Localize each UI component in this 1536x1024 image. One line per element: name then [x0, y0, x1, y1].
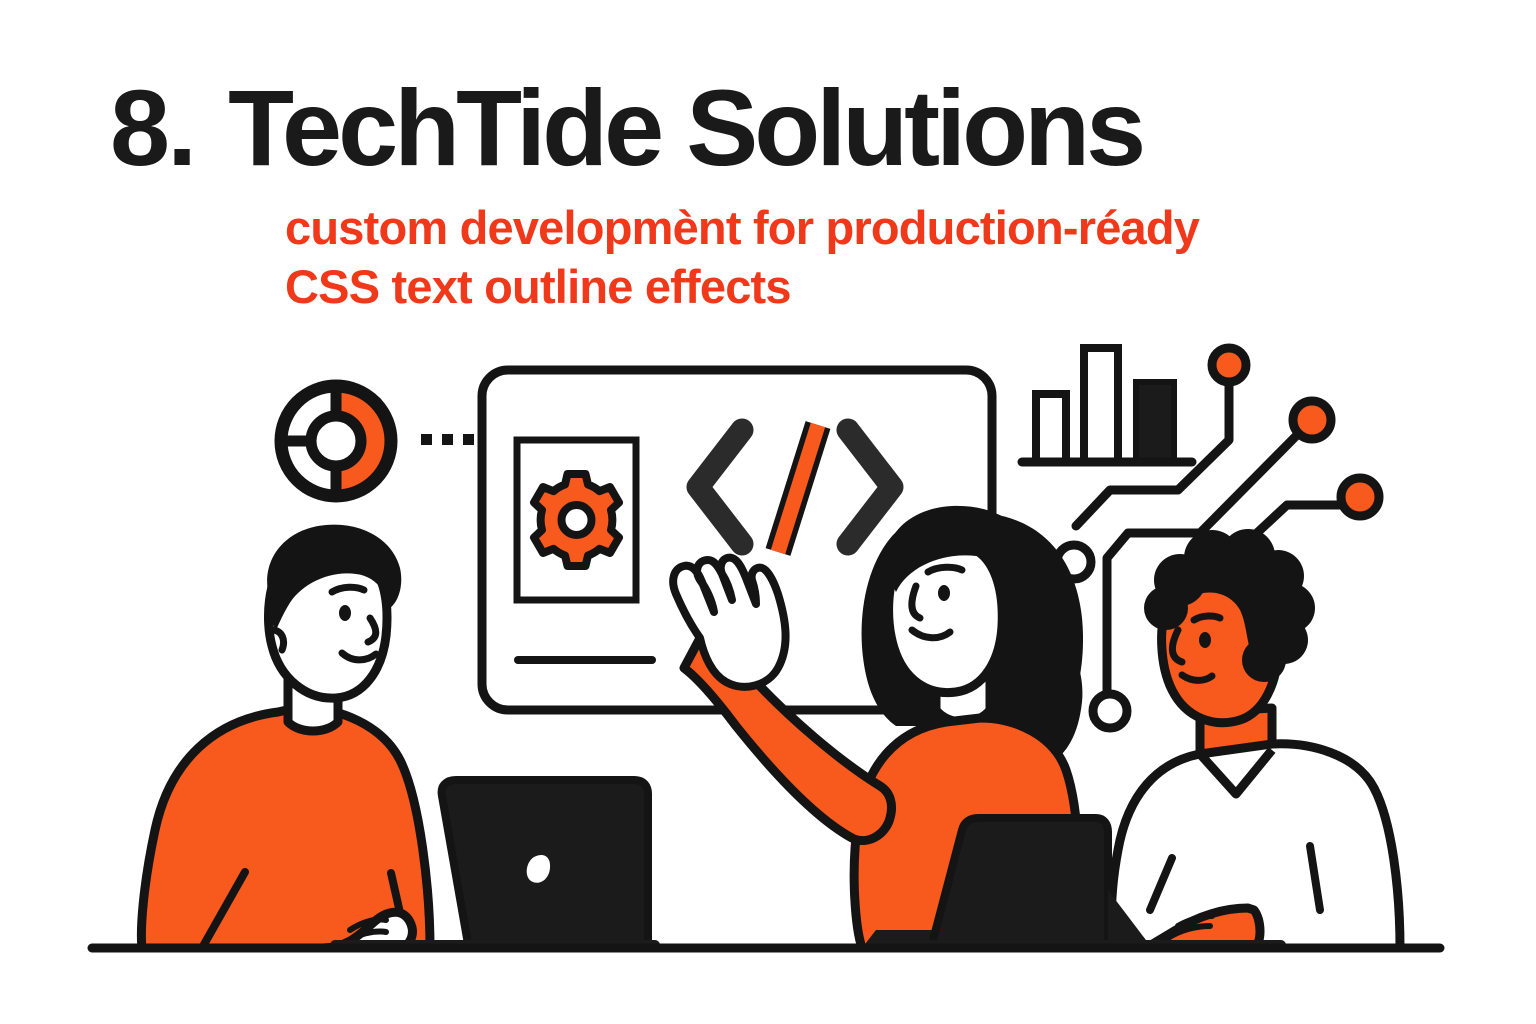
subtitle-line-2: CSS text outline effects [285, 257, 1430, 316]
circuit-node-5 [1093, 694, 1127, 728]
illustration [0, 330, 1536, 990]
ellipsis-dots [421, 434, 474, 445]
bar-1 [1036, 394, 1066, 462]
donut-chart [281, 386, 391, 496]
donut-inner-ring [311, 416, 361, 466]
subtitle-block: custom developmènt for production-réady … [285, 198, 1430, 316]
center-person-eye [938, 585, 950, 601]
left-person-eye [339, 605, 351, 621]
right-person-eye [1199, 632, 1211, 648]
laptop-center-lid [932, 818, 1108, 944]
circuit-node-2 [1293, 401, 1331, 439]
right-person-eyebrow [1194, 616, 1220, 620]
bar-chart [1022, 348, 1192, 462]
illustration-svg [0, 330, 1536, 990]
headline-block: 8. TechTide Solutions custom developmènt… [110, 74, 1430, 316]
person-right-developer [1106, 529, 1400, 990]
ellipsis-dot-1 [421, 434, 432, 445]
title-row: 8. TechTide Solutions [110, 74, 1430, 182]
ellipsis-dot-2 [442, 434, 453, 445]
rank-number: 8. [110, 74, 194, 182]
ellipsis-dot-3 [463, 434, 474, 445]
bar-2 [1084, 348, 1118, 462]
circuit-node-3 [1341, 478, 1379, 516]
subtitle-line-1: custom developmènt for production-réady [285, 198, 1430, 257]
circuit-node-1 [1212, 348, 1246, 382]
gear-icon [534, 474, 619, 566]
poster-canvas: 8. TechTide Solutions custom developmènt… [0, 0, 1536, 1024]
page-title: TechTide Solutions [228, 74, 1142, 182]
bar-3 [1136, 382, 1174, 462]
